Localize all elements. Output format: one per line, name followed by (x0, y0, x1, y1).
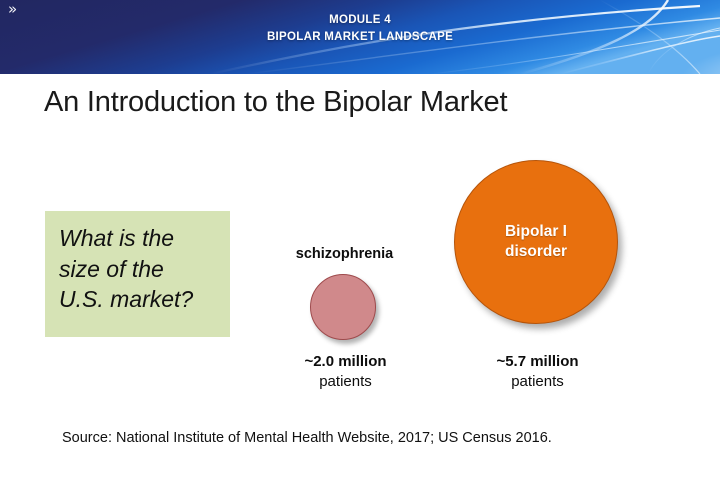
module-number: MODULE 4 (0, 12, 720, 29)
callout-line-3: U.S. market? (59, 284, 216, 315)
bubble-inner-label-line-2: disorder (505, 242, 567, 262)
caption-unit-bipolar: patients (445, 372, 630, 392)
bubble-schizophrenia (310, 274, 376, 340)
slide: » MODULE 4 BIPOLAR MARKET LANDSCAPE An I… (0, 0, 720, 480)
module-subtitle: BIPOLAR MARKET LANDSCAPE (0, 29, 720, 46)
caption-value-schizophrenia: ~2.0 million (253, 352, 438, 372)
question-callout-box: What is the size of the U.S. market? (45, 211, 230, 337)
module-heading: MODULE 4 BIPOLAR MARKET LANDSCAPE (0, 12, 720, 45)
caption-unit-schizophrenia: patients (253, 372, 438, 392)
callout-line-1: What is the (59, 223, 216, 254)
caption-bipolar: ~5.7 million patients (445, 352, 630, 393)
caption-value-bipolar: ~5.7 million (445, 352, 630, 372)
bubble-inner-label-bipolar: Bipolar I disorder (505, 222, 567, 263)
callout-line-2: size of the (59, 254, 216, 285)
source-note: Source: National Institute of Mental Hea… (62, 430, 552, 446)
header-banner: » MODULE 4 BIPOLAR MARKET LANDSCAPE (0, 0, 720, 74)
bubble-inner-label-line-1: Bipolar I (505, 222, 567, 242)
caption-schizophrenia: ~2.0 million patients (253, 352, 438, 393)
bubble-bipolar-i-disorder: Bipolar I disorder (454, 160, 618, 324)
bubble-label-schizophrenia: schizophrenia (262, 246, 427, 262)
page-title: An Introduction to the Bipolar Market (44, 86, 507, 119)
